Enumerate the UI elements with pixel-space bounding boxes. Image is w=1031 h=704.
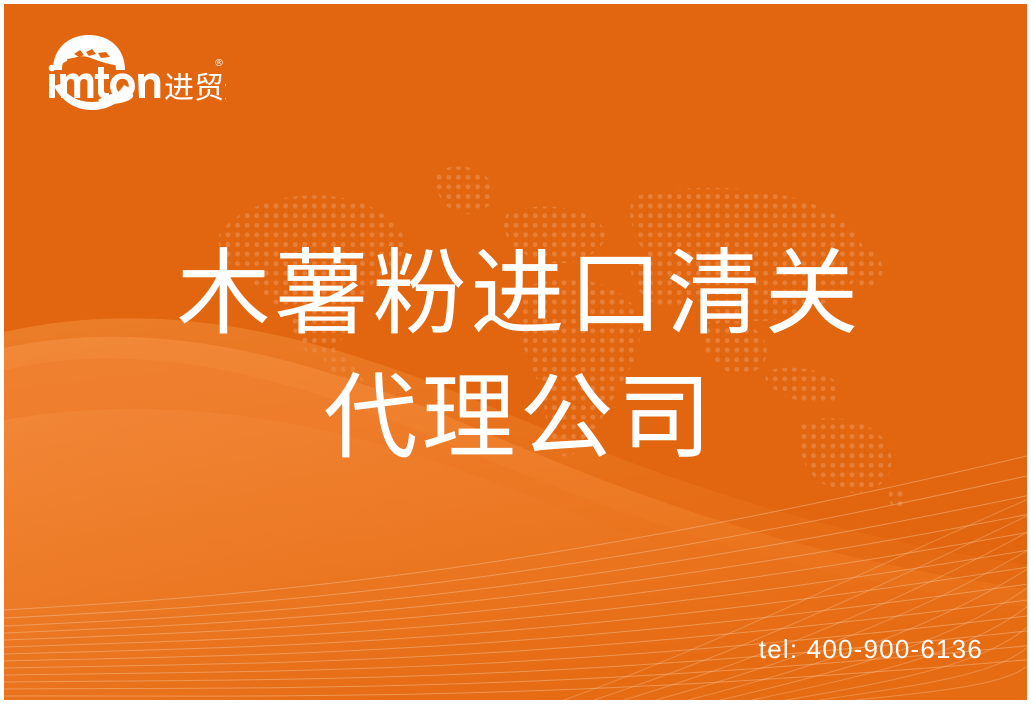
page-title: 木薯粉进口清关 代理公司 bbox=[4, 232, 1027, 480]
page-title-line-2: 代理公司 bbox=[4, 356, 1027, 480]
page-title-line-1: 木薯粉进口清关 bbox=[4, 232, 1027, 356]
banner-stage: 进贸通 ® imton 进贸通 木薯粉进口清关 代理公司 tel: 400-90… bbox=[4, 4, 1027, 700]
logo-brand-cn: 进贸通 bbox=[36, 112, 37, 113]
logo-brand-latin: imton bbox=[36, 112, 37, 113]
brand-logo[interactable]: 进贸通 ® imton 进贸通 bbox=[36, 30, 226, 112]
logo-trademark: ® bbox=[214, 58, 224, 69]
globe-icon bbox=[53, 35, 125, 70]
logo-wordmark-cn: 进贸通 bbox=[164, 71, 226, 106]
logo-wordmark-latin bbox=[49, 65, 161, 99]
contact-phone[interactable]: tel: 400-900-6136 bbox=[759, 636, 983, 662]
promo-banner: 进贸通 ® imton 进贸通 木薯粉进口清关 代理公司 tel: 400-90… bbox=[0, 0, 1031, 704]
